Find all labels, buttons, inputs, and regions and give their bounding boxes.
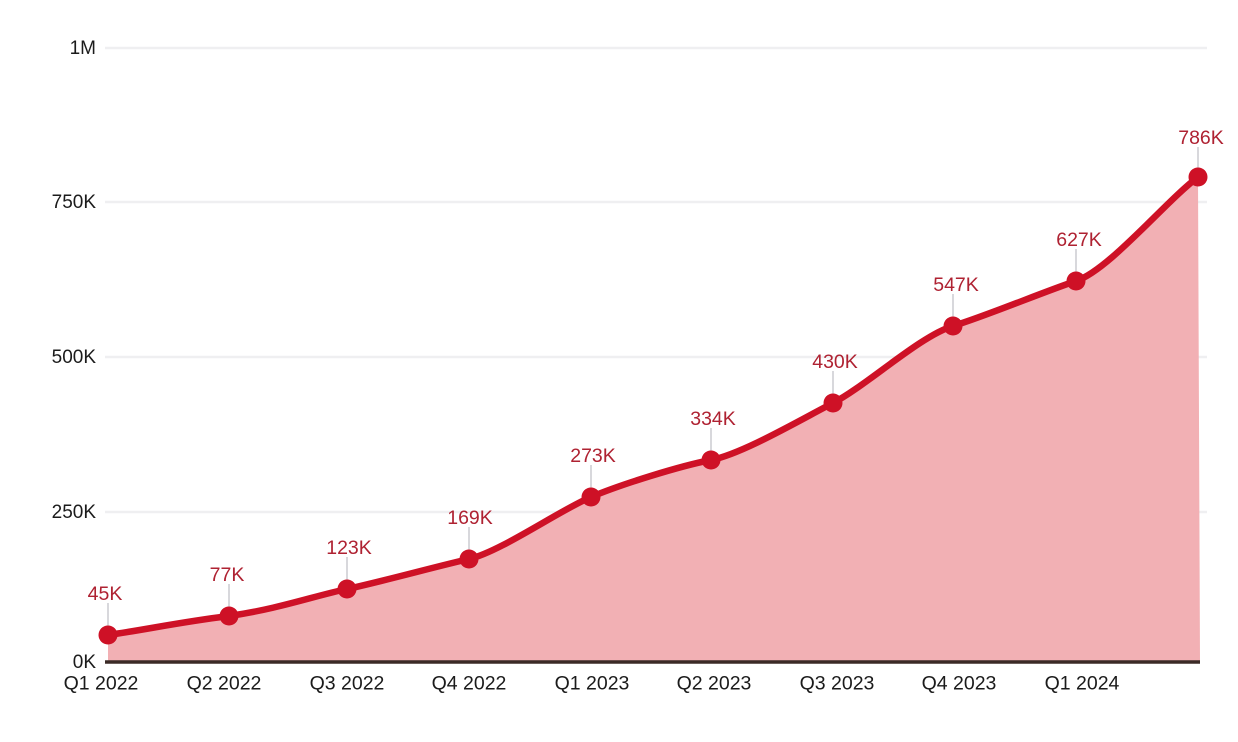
chart-canvas: 1M 750K 500K 250K 0K Q1 2022 Q2 2022 Q3 … bbox=[0, 0, 1238, 742]
data-label-q4-2023: 547K bbox=[933, 274, 979, 296]
data-point-q3-2023[interactable] bbox=[824, 394, 843, 413]
x-tick-label-q3-2023: Q3 2023 bbox=[800, 673, 875, 695]
data-point-q1-2024[interactable] bbox=[1067, 272, 1086, 291]
x-tick-label-q1-2024: Q1 2024 bbox=[1045, 673, 1120, 695]
data-point-q2-2023[interactable] bbox=[702, 451, 721, 470]
data-label-q2-2022: 77K bbox=[210, 564, 245, 586]
x-axis-tick-labels: Q1 2022 Q2 2022 Q3 2022 Q4 2022 Q1 2023 … bbox=[64, 673, 1120, 695]
data-label-q1-2024: 627K bbox=[1056, 229, 1102, 251]
x-tick-label-q2-2022: Q2 2022 bbox=[187, 673, 262, 695]
y-axis-tick-labels: 1M 750K 500K 250K 0K bbox=[52, 38, 97, 673]
y-tick-label-750k: 750K bbox=[52, 192, 97, 213]
y-tick-label-250k: 250K bbox=[52, 502, 97, 523]
data-point-q2-2022[interactable] bbox=[220, 607, 239, 626]
data-point-q2-2024[interactable] bbox=[1189, 168, 1208, 187]
x-tick-label-q1-2022: Q1 2022 bbox=[64, 673, 139, 695]
y-tick-label-0k: 0K bbox=[73, 652, 97, 673]
data-point-q3-2022[interactable] bbox=[338, 580, 357, 599]
data-point-q1-2022[interactable] bbox=[99, 626, 118, 645]
data-point-q4-2023[interactable] bbox=[944, 317, 963, 336]
data-label-q3-2023: 430K bbox=[812, 351, 858, 373]
x-tick-label-q3-2022: Q3 2022 bbox=[310, 673, 385, 695]
y-tick-label-500k: 500K bbox=[52, 347, 97, 368]
data-label-q3-2022: 123K bbox=[326, 537, 372, 559]
x-tick-label-q1-2023: Q1 2023 bbox=[555, 673, 630, 695]
x-tick-label-q2-2023: Q2 2023 bbox=[677, 673, 752, 695]
data-label-q2-2023: 334K bbox=[690, 408, 736, 430]
x-tick-label-q4-2023: Q4 2023 bbox=[922, 673, 997, 695]
area-chart: 1M 750K 500K 250K 0K Q1 2022 Q2 2022 Q3 … bbox=[0, 0, 1238, 742]
x-tick-label-q4-2022: Q4 2022 bbox=[432, 673, 507, 695]
area-fill bbox=[108, 177, 1200, 662]
data-point-q1-2023[interactable] bbox=[582, 488, 601, 507]
data-label-q2-2024: 786K bbox=[1178, 127, 1224, 149]
data-label-q4-2022: 169K bbox=[447, 507, 493, 529]
data-point-q4-2022[interactable] bbox=[460, 550, 479, 569]
data-label-q1-2022: 45K bbox=[88, 583, 123, 605]
data-label-q1-2023: 273K bbox=[570, 445, 616, 467]
y-tick-label-1m: 1M bbox=[70, 38, 96, 59]
